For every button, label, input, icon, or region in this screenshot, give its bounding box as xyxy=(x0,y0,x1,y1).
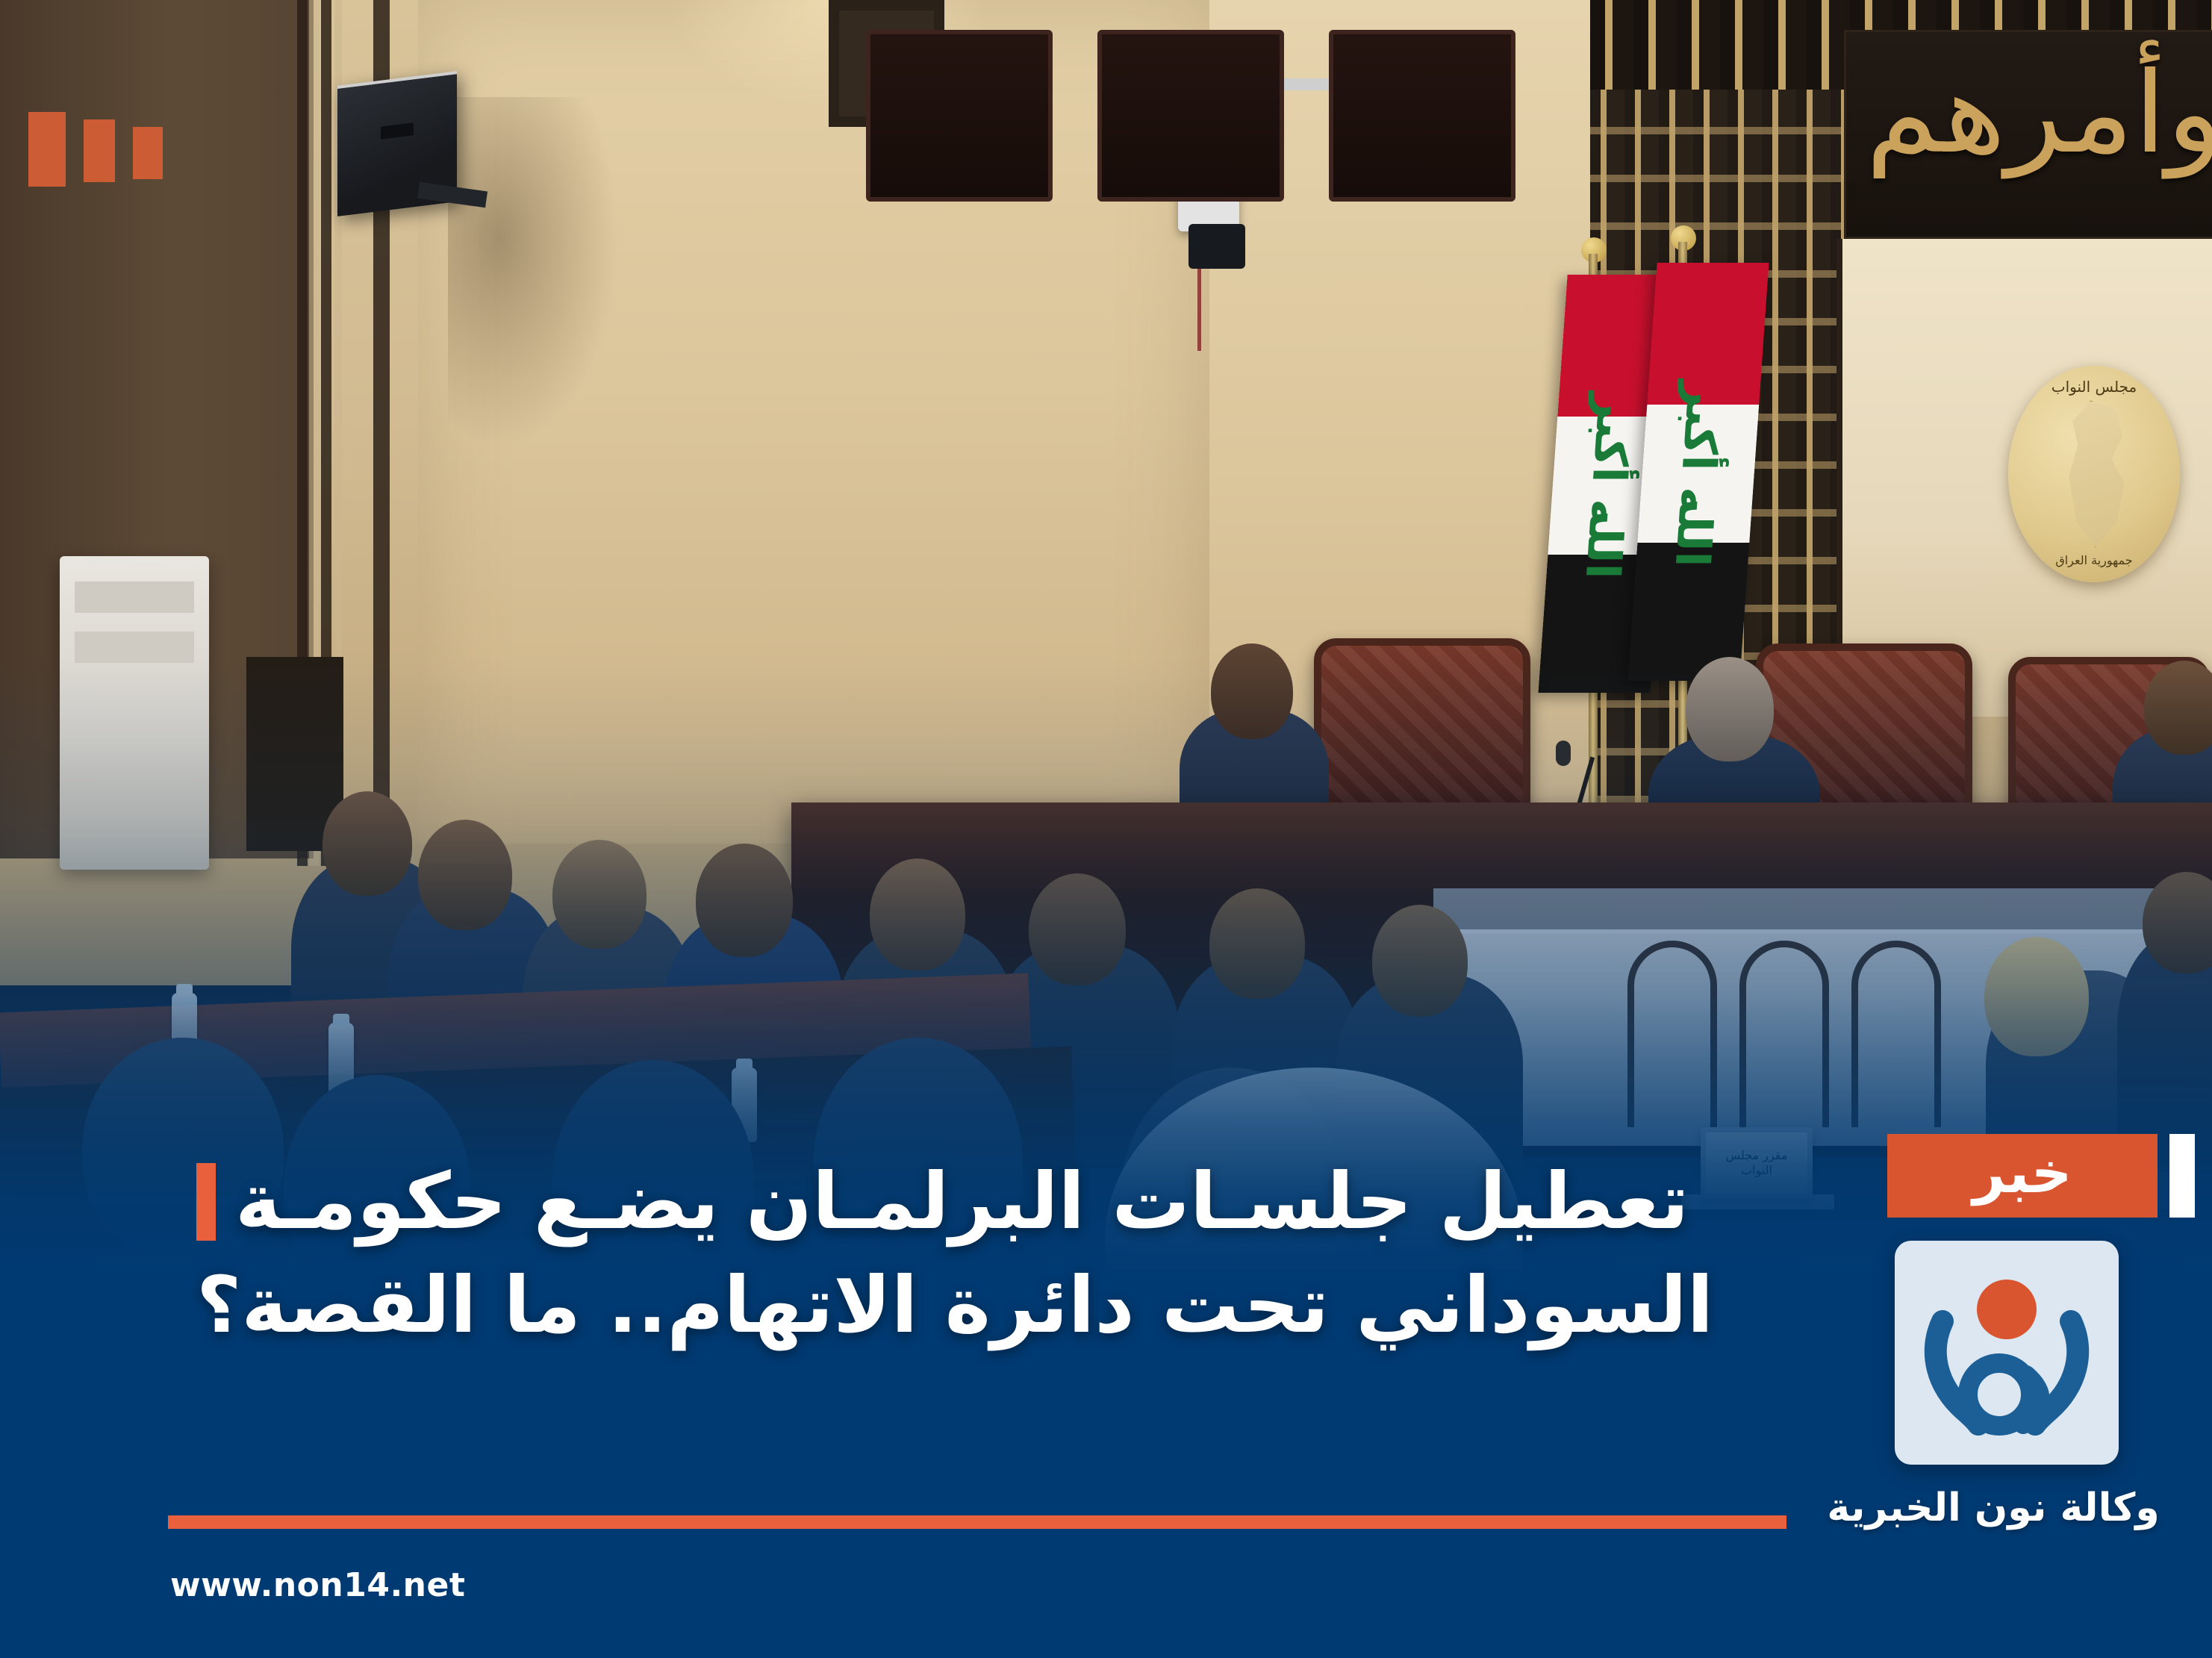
calligraphy-plaque: وأمرهم شورى بينهم xyxy=(1844,30,2212,239)
dais-panel-3 xyxy=(1329,30,1515,202)
noon-logo-icon xyxy=(1895,1241,2119,1465)
air-conditioner-unit xyxy=(60,556,209,870)
wall-arch-3 xyxy=(1851,941,1941,1127)
news-badge-label: خبر xyxy=(1972,1144,2072,1201)
footer-divider xyxy=(168,1515,1786,1529)
news-card: وأمرهم شورى بينهم مجلس النواب جمهورية ال… xyxy=(0,0,2212,1658)
ac-vent xyxy=(75,582,194,613)
member-head-3 xyxy=(552,840,647,949)
camera-cable xyxy=(1197,269,1201,351)
news-badge-fill: خبر xyxy=(1887,1134,2158,1218)
water-bottle-cap-3 xyxy=(736,1059,753,1070)
headline-accent-bar xyxy=(196,1163,216,1241)
member-head-1 xyxy=(323,791,412,896)
agency-name: وكالة نون الخبرية xyxy=(1777,1486,2210,1530)
headline-row-2: السوداني تحت دائرة الاتهام.. ما القصة؟ xyxy=(196,1253,1824,1357)
emblem-top-text: مجلس النواب xyxy=(2008,378,2180,396)
watermark-bar-short xyxy=(133,127,163,179)
official-head-2 xyxy=(1686,657,1774,761)
speaker-shadow xyxy=(448,97,620,448)
camera-lens xyxy=(1188,224,1245,269)
site-url[interactable]: www.non14.net xyxy=(170,1566,465,1604)
agency-logo-tile xyxy=(1895,1241,2119,1465)
water-bottle-cap-2 xyxy=(333,1014,349,1026)
member-head-4 xyxy=(696,844,793,957)
member-head-8 xyxy=(1372,905,1468,1017)
emblem-bottom-text: جمهورية العراق xyxy=(2008,553,2180,567)
parliament-emblem: مجلس النواب جمهورية العراق xyxy=(2008,366,2180,582)
speaker-grille xyxy=(381,122,414,140)
official-head-3 xyxy=(2144,661,2212,755)
dais-panel-1 xyxy=(866,30,1053,202)
lower-wall-band xyxy=(1433,888,2212,933)
wall-arch-2 xyxy=(1739,941,1829,1127)
dais-microphone-head xyxy=(1556,741,1571,766)
member-head-2 xyxy=(418,820,512,930)
headline-block: تعطيل جلسـات البرلمـان يضـع حكومـة السود… xyxy=(196,1150,1824,1358)
headline-row-1: تعطيل جلسـات البرلمـان يضـع حكومـة xyxy=(196,1150,1824,1253)
watermark-bar-medium xyxy=(84,119,115,182)
headline-line-2: السوداني تحت دائرة الاتهام.. ما القصة؟ xyxy=(196,1253,1713,1357)
member-head-7 xyxy=(1209,888,1305,999)
iraq-map-icon xyxy=(2053,400,2143,547)
water-bottle-cap-1 xyxy=(176,984,193,996)
logo-dot-icon xyxy=(1977,1280,2037,1339)
brand-watermark xyxy=(28,112,163,187)
presidium-chair-left xyxy=(1314,638,1530,817)
member-head-5 xyxy=(870,858,965,970)
dais-panel-2 xyxy=(1097,30,1284,202)
news-badge-white-bar xyxy=(2169,1134,2195,1218)
ac-vent-2 xyxy=(75,632,194,663)
member-head-6 xyxy=(1029,873,1126,985)
watermark-bar-tall xyxy=(28,112,66,187)
wall-arch-1 xyxy=(1627,941,1717,1127)
member-head-9-blonde xyxy=(1984,937,2089,1056)
calligraphy-text: وأمرهم شورى بينهم xyxy=(1844,57,2212,169)
headline-line-1: تعطيل جلسـات البرلمـان يضـع حكومـة xyxy=(235,1150,1689,1253)
news-badge: خبر xyxy=(1887,1134,2195,1218)
official-head-1 xyxy=(1211,643,1293,739)
